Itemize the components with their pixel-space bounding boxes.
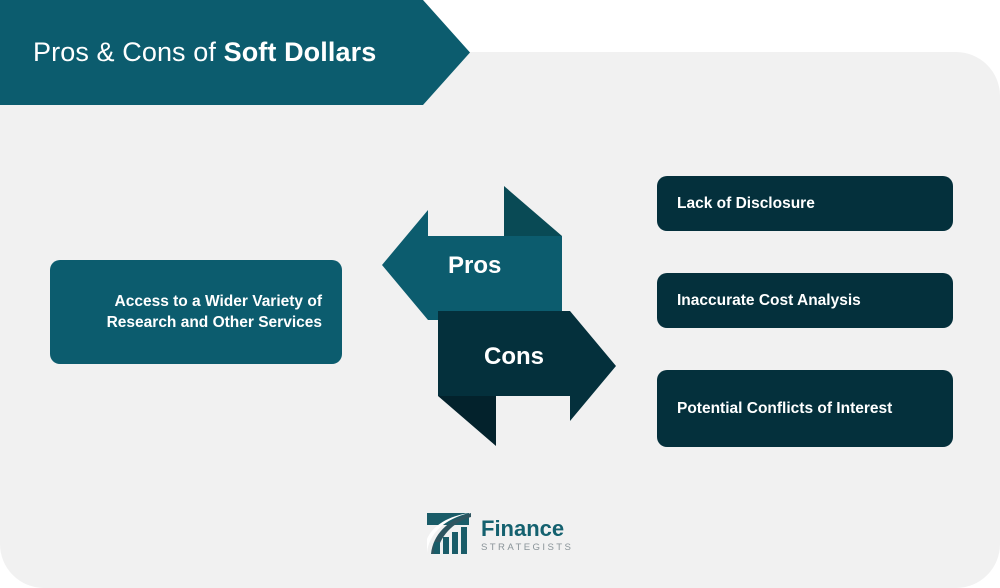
pros-item-box[interactable]: Access to a Wider Variety of Research an…	[50, 260, 342, 364]
page-title-regular: Pros & Cons of	[33, 37, 224, 67]
cons-item-label-2: Inaccurate Cost Analysis	[677, 290, 861, 311]
header-banner: Pros & Cons of Soft Dollars	[0, 0, 470, 105]
page-title: Pros & Cons of Soft Dollars	[0, 37, 376, 68]
cons-item-box-2[interactable]: Inaccurate Cost Analysis	[657, 273, 953, 328]
cons-item-label-1: Lack of Disclosure	[677, 193, 815, 214]
bar-chart-arc-logo-icon	[425, 511, 473, 560]
cons-item-box-1[interactable]: Lack of Disclosure	[657, 176, 953, 231]
cons-item-box-3[interactable]: Potential Conflicts of Interest	[657, 370, 953, 447]
cons-item-label-3: Potential Conflicts of Interest	[677, 398, 892, 419]
pros-arrow-label: Pros	[448, 252, 501, 280]
brand-logo-text: Finance STRATEGISTS	[481, 518, 573, 553]
brand-logo: Finance STRATEGISTS	[425, 511, 575, 559]
pros-item-label: Access to a Wider Variety of Research an…	[70, 291, 322, 333]
cons-arrow-label: Cons	[484, 343, 544, 371]
brand-tagline: STRATEGISTS	[481, 543, 573, 553]
infographic-page: Pros & Cons of Soft Dollars Access to a …	[0, 0, 1000, 588]
page-title-bold: Soft Dollars	[224, 37, 377, 67]
brand-name: Finance	[481, 518, 573, 540]
